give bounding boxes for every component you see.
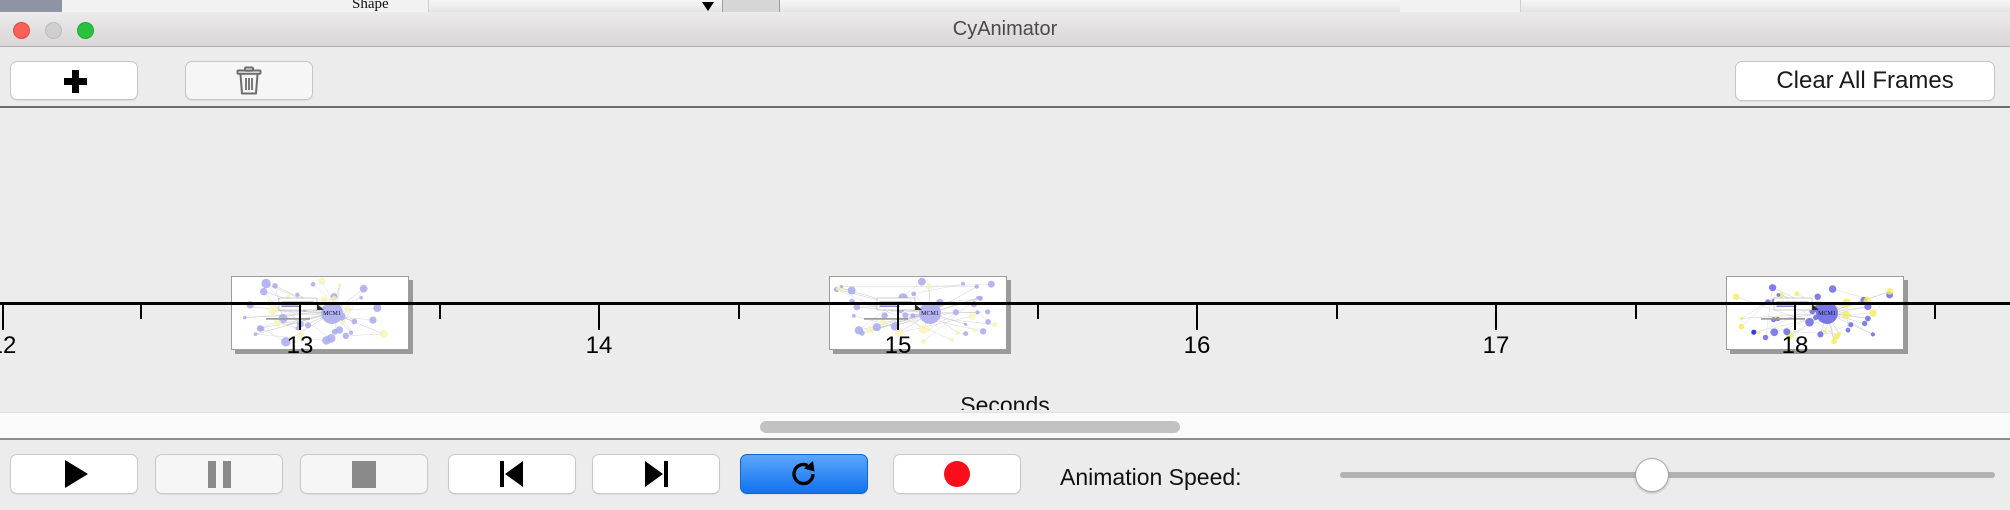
axis-tick-major (897, 305, 899, 330)
axis-tick-label: 12 (0, 332, 16, 360)
cyanimator-window: Shape CyAnimator Clear All Frames (0, 0, 2010, 510)
trash-icon (236, 66, 262, 96)
background-cell (244, 0, 299, 12)
delete-frame-button[interactable] (185, 61, 313, 100)
animation-speed-slider-thumb[interactable] (1635, 458, 1669, 492)
axis-tick-label: 18 (1782, 332, 1809, 360)
axis-tick-major (1196, 305, 1198, 330)
timeline-axis (0, 302, 2010, 305)
axis-tick-minor (1934, 305, 1936, 319)
play-button[interactable] (10, 454, 138, 494)
network-graph-thumbnail: MCM1 (830, 277, 1004, 347)
animation-speed-label: Animation Speed: (1060, 464, 1242, 491)
horizontal-scrollbar[interactable] (0, 412, 2010, 440)
pause-icon (208, 461, 231, 488)
background-arrow-icon (702, 2, 714, 11)
title-bar: CyAnimator (0, 12, 2010, 47)
background-tab (0, 0, 62, 12)
axis-tick-minor (1336, 305, 1338, 319)
axis-tick-major (1794, 305, 1796, 330)
axis-tick-minor (140, 305, 142, 319)
axis-tick-label: 13 (287, 332, 314, 360)
stop-button[interactable] (300, 454, 428, 494)
axis-tick-label: 16 (1184, 332, 1211, 360)
timeline-frame[interactable]: MCM1 (829, 276, 1007, 350)
axis-tick-label: 17 (1483, 332, 1510, 360)
axis-tick-minor (439, 305, 441, 319)
plus-icon (63, 69, 86, 92)
skip-back-icon (500, 461, 524, 487)
record-icon (944, 461, 970, 487)
axis-tick-major (299, 305, 301, 330)
background-cell (182, 0, 245, 12)
axis-tick-major (1495, 305, 1497, 330)
axis-tick-minor (1037, 305, 1039, 319)
timeline-panel[interactable]: MCM1MCM1MCM1 12131415161718 Seconds (0, 110, 2010, 410)
axis-tick-label: 14 (586, 332, 613, 360)
toolbar: Clear All Frames (0, 47, 2010, 108)
axis-tick-label: 15 (885, 332, 912, 360)
clear-all-frames-button[interactable]: Clear All Frames (1735, 61, 1995, 101)
timeline-frame[interactable]: MCM1 (231, 276, 409, 350)
animation-speed-slider[interactable] (1340, 472, 1995, 478)
play-icon (65, 460, 88, 488)
skip-end-button[interactable] (592, 454, 720, 494)
pause-button[interactable] (155, 454, 283, 494)
stop-icon (352, 461, 376, 488)
record-button[interactable] (893, 454, 1021, 494)
add-frame-button[interactable] (10, 61, 138, 100)
background-cell (1400, 0, 1461, 12)
background-cell (1460, 0, 1521, 12)
loop-icon (789, 459, 819, 489)
scrollbar-thumb[interactable] (760, 421, 1180, 433)
page-title: CyAnimator (0, 12, 2010, 47)
loop-button[interactable] (740, 454, 868, 494)
network-graph-thumbnail: MCM1 (232, 277, 406, 347)
network-graph-thumbnail: MCM1 (1727, 277, 1901, 347)
axis-tick-major (598, 305, 600, 330)
svg-text:MCM1: MCM1 (921, 311, 939, 317)
svg-text:MCM1: MCM1 (1818, 311, 1836, 317)
axis-tick-minor (738, 305, 740, 319)
axis-tick-minor (1635, 305, 1637, 319)
skip-forward-icon (644, 461, 668, 487)
svg-text:MCM1: MCM1 (323, 311, 341, 317)
timeline-frame[interactable]: MCM1 (1726, 276, 1904, 350)
background-cell (62, 0, 183, 12)
axis-title: Seconds (0, 392, 2010, 410)
background-cell (722, 0, 780, 12)
playback-bar: Animation Speed: (0, 442, 2010, 510)
skip-start-button[interactable] (448, 454, 576, 494)
axis-tick-major (2, 305, 4, 330)
